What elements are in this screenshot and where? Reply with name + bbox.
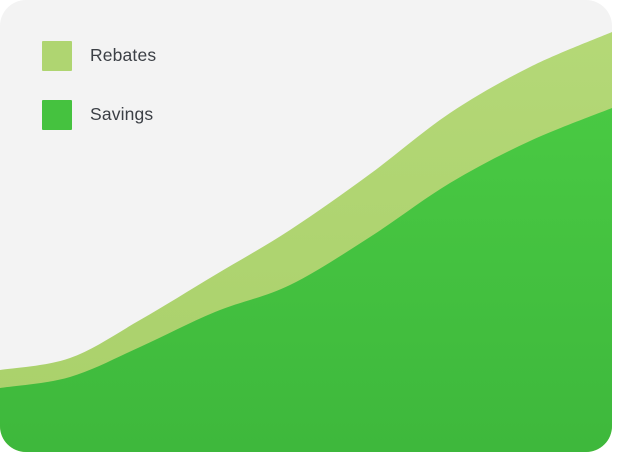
rebates-swatch-icon	[42, 41, 72, 71]
legend-label-rebates: Rebates	[90, 47, 156, 65]
legend-label-savings: Savings	[90, 106, 153, 124]
area-series-savings	[0, 108, 612, 452]
chart-legend: Rebates Savings	[42, 41, 302, 159]
chart-card: Rebates Savings	[0, 0, 612, 452]
legend-item-savings[interactable]: Savings	[42, 100, 302, 130]
savings-swatch-icon	[42, 100, 72, 130]
legend-item-rebates[interactable]: Rebates	[42, 41, 302, 71]
